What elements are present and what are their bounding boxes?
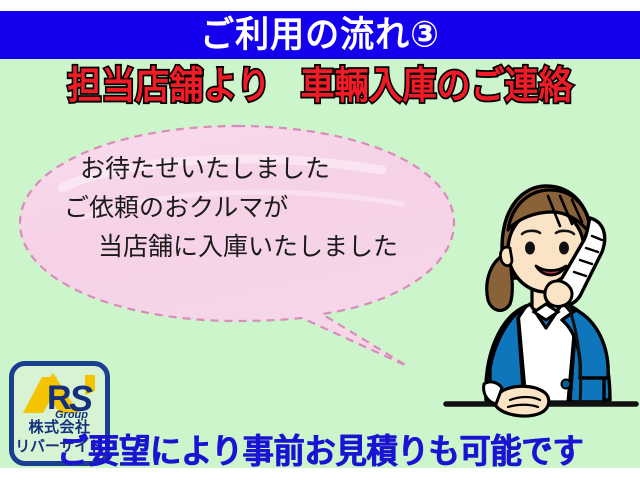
- subtitle-right: 車輛入庫のご連絡: [301, 67, 573, 105]
- operator-illustration: [440, 178, 640, 433]
- footer-note: ご要望により事前お見積りも可能です: [0, 430, 640, 472]
- subtitle-left: 担当店舗より: [67, 67, 270, 105]
- speech-bubble: お待たせいたしました ご依頼のおクルマが 当店舗に入庫いたしました: [2, 118, 472, 368]
- footer-note-text: ご要望により事前お見積りも可能です: [57, 434, 583, 468]
- phone-operator-icon: [440, 178, 640, 433]
- page-title: ご利用の流れ③: [200, 17, 440, 53]
- header-bar: ご利用の流れ③: [0, 11, 640, 59]
- speech-bubble-shape: [2, 118, 472, 368]
- subtitle-row: 担当店舗より 車輛入庫のご連絡: [0, 60, 640, 112]
- poster-canvas: ご利用の流れ③ 担当店舗より 車輛入庫のご連絡 お待たせいたしました ご依頼のお…: [0, 0, 640, 480]
- top-white-strip: [0, 0, 640, 11]
